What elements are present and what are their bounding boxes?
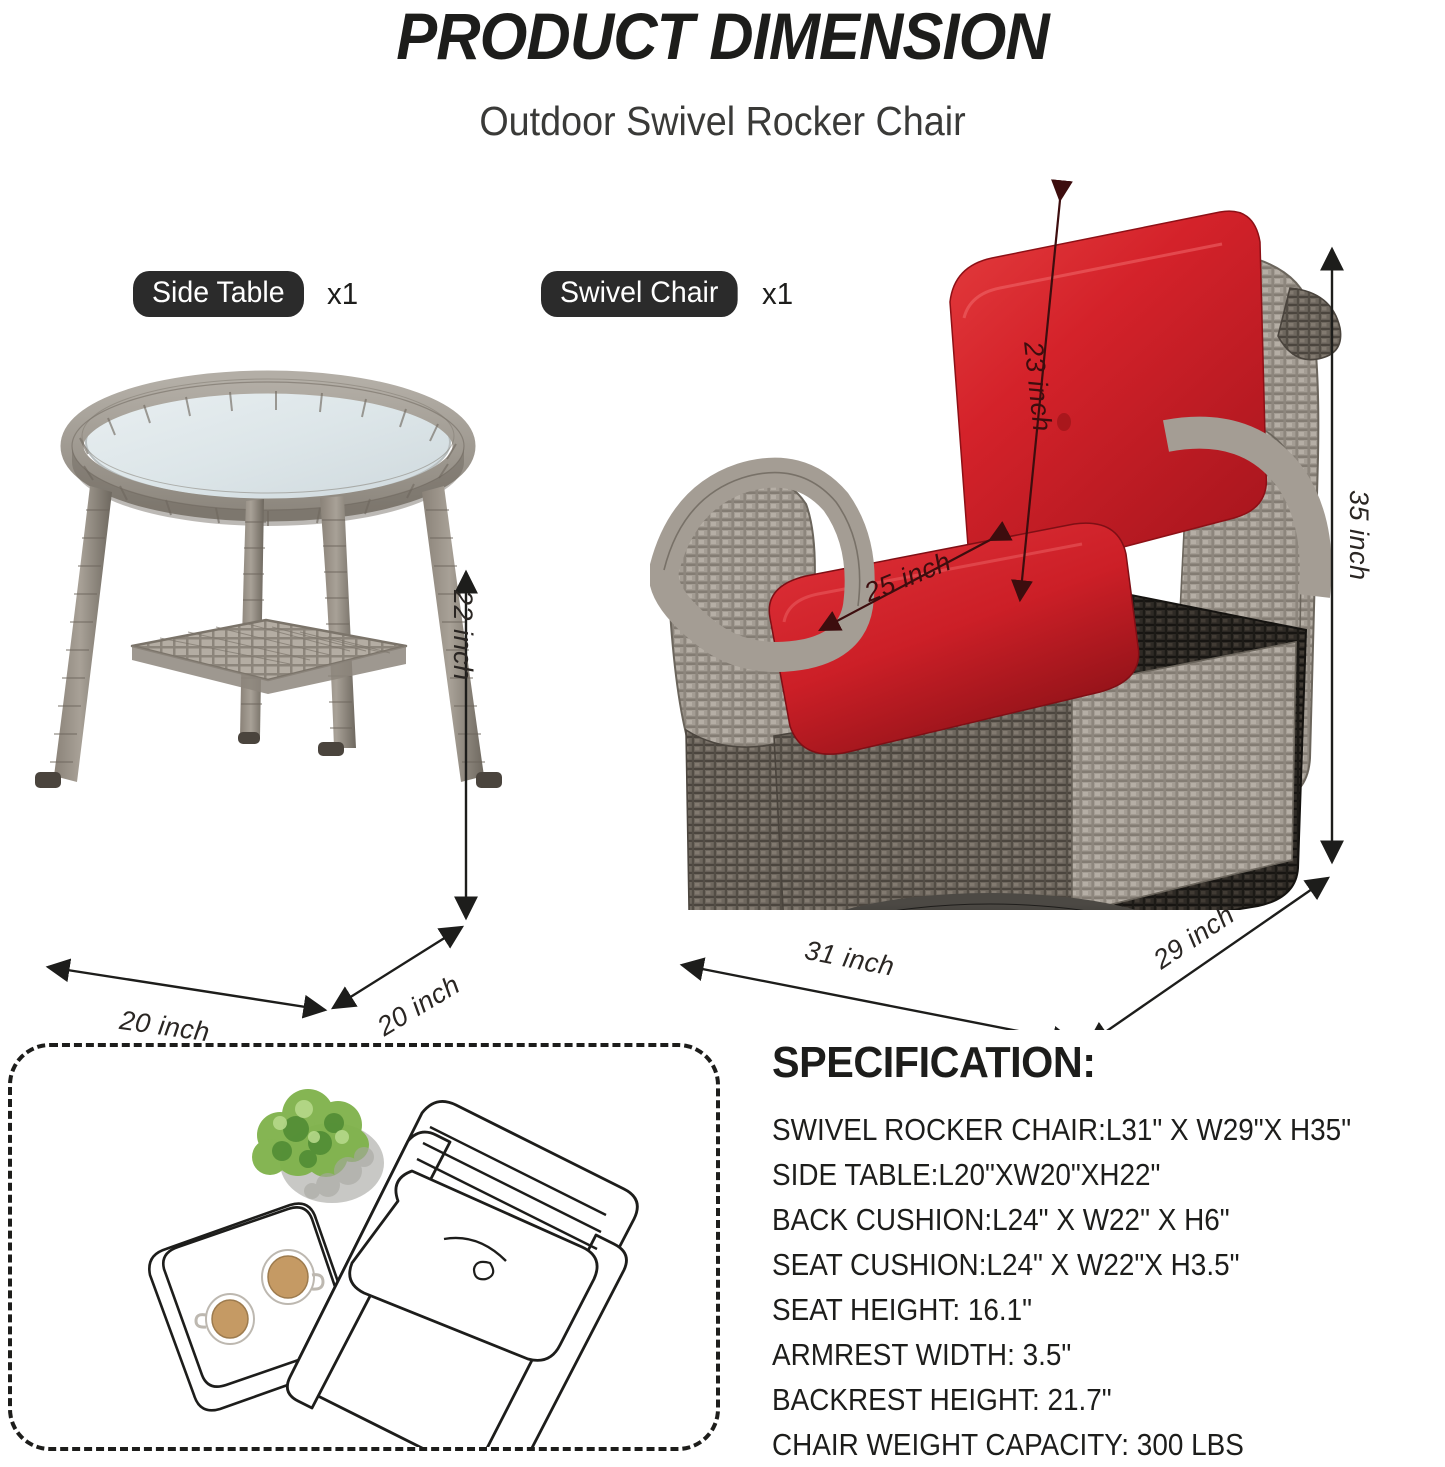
dim-chair-overall-height: 35 inch bbox=[1343, 490, 1374, 581]
dim-side-table-height: 22 inch bbox=[447, 590, 478, 681]
top-view-line-art bbox=[12, 1047, 716, 1447]
spec-line-armrest-width: ARMREST WIDTH: 3.5" bbox=[772, 1332, 1375, 1377]
product-illustrations: 22 inch 20 inch 20 inch bbox=[0, 160, 1445, 1030]
spec-line-seat-height: SEAT HEIGHT: 16.1" bbox=[772, 1287, 1375, 1332]
coffee-cup-icon bbox=[196, 1294, 254, 1344]
potted-plant-icon bbox=[252, 1089, 384, 1203]
specification-title: SPECIFICATION: bbox=[772, 1038, 1402, 1088]
spec-line-seat-cushion: SEAT CUSHION:L24" X W22"X H3.5" bbox=[772, 1242, 1375, 1287]
page-subtitle: Outdoor Swivel Rocker Chair bbox=[58, 98, 1387, 145]
specification-section: SPECIFICATION: SWIVEL ROCKER CHAIR:L31" … bbox=[772, 1038, 1442, 1467]
spec-line-swivel-rocker-chair: SWIVEL ROCKER CHAIR:L31" X W29"X H35" bbox=[772, 1107, 1375, 1152]
spec-line-back-cushion: BACK CUSHION:L24" X W22" X H6" bbox=[772, 1197, 1375, 1242]
side-table-dimension-arrows bbox=[0, 380, 520, 1140]
page-title: PRODUCT DIMENSION bbox=[51, 0, 1395, 74]
spec-line-backrest-height: BACKREST HEIGHT: 21.7" bbox=[772, 1377, 1375, 1422]
coffee-cup-icon bbox=[262, 1250, 323, 1304]
spec-line-side-table: SIDE TABLE:L20"XW20"XH22" bbox=[772, 1152, 1375, 1197]
swivel-chair-dimension-arrows bbox=[650, 160, 1445, 1030]
spec-line-weight-capacity: CHAIR WEIGHT CAPACITY: 300 LBS bbox=[772, 1422, 1375, 1467]
top-view-scene-panel bbox=[8, 1043, 720, 1451]
header: PRODUCT DIMENSION Outdoor Swivel Rocker … bbox=[0, 0, 1445, 170]
